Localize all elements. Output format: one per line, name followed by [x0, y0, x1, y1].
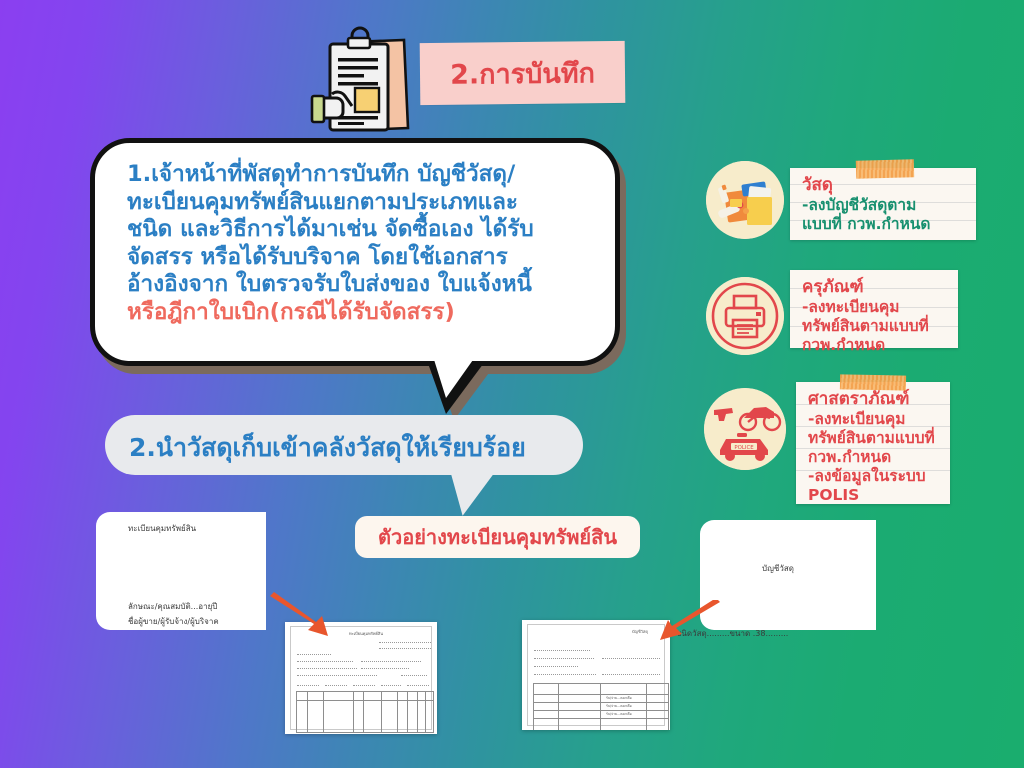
bubble-line-4: จัดสรร หรือได้รับบริจาค โดยใช้เอกสาร	[127, 244, 589, 272]
doc-card-left-line-1: ลักษณะ/คุณสมบัติ...อายุปี	[128, 600, 217, 613]
slide-canvas: 2.การบันทึก 1.เจ้าหน้าที่พัสดุทำการบันทึ…	[0, 0, 1024, 768]
second-bubble-text: 2.นำวัสดุเก็บเข้าคลังวัสดุให้เรียบร้อย	[129, 428, 526, 468]
note-3-line-2: ทรัพย์สินตามแบบที่	[808, 429, 940, 448]
note-2-line-1: -ลงทะเบียนคุม	[802, 298, 948, 317]
note-card-3: ศาสตราภัณฑ์ -ลงทะเบียนคุม ทรัพย์สินตามแบ…	[796, 382, 950, 504]
slide-title-banner: 2.การบันทึก	[420, 41, 626, 105]
note-3-line-5: POLIS	[808, 486, 940, 505]
note-1-line-1: -ลงบัญชีวัสดุตาม	[802, 196, 966, 215]
bubble-line-1: 1.เจ้าหน้าที่พัสดุทำการบันทึก บัญชีวัสดุ…	[127, 161, 589, 189]
doc-card-right-title: บัญชีวัสดุ	[762, 562, 794, 575]
doc-card-left-line-2: ชื่อผู้ขาย/ผู้รับจ้าง/ผู้บริจาค	[128, 615, 219, 628]
page-title: 2.การบันทึก	[450, 51, 595, 96]
example-label-text: ตัวอย่างทะเบียนคุมทรัพย์สิน	[378, 521, 617, 553]
bubble-line-2: ทะเบียนคุมทรัพย์สินแยกตามประเภทและ	[127, 189, 589, 217]
tape-strip-3	[840, 374, 906, 390]
main-bubble-tail-fill	[431, 350, 480, 398]
form-sheet-right: บัญชีวัสดุ รับ/จ่าย...คงเหลือ รับ/จ่าย..…	[522, 620, 670, 730]
doc-card-left: ทะเบียนคุมทรัพย์สิน ลักษณะ/คุณสมบัติ...อ…	[96, 512, 266, 630]
note-3-line-4: -ลงข้อมูลในระบบ	[808, 467, 940, 486]
note-card-1: วัสดุ -ลงบัญชีวัสดุตาม แบบที่ กวพ.กำหนด	[790, 168, 976, 240]
note-2-line-2: ทรัพย์สินตามแบบที่	[802, 317, 948, 336]
arrow-to-left-form	[268, 592, 340, 646]
form-right-title: บัญชีวัสดุ	[632, 628, 648, 635]
note-2-line-3: กวพ.กำหนด	[802, 336, 948, 355]
office-supplies-icon	[706, 161, 784, 239]
second-speech-bubble: 2.นำวัสดุเก็บเข้าคลังวัสดุให้เรียบร้อย	[105, 415, 583, 475]
doc-card-right: บัญชีวัสดุ	[700, 520, 876, 630]
clipboard-hand-icon	[308, 26, 418, 136]
printer-icon	[706, 277, 784, 355]
form-left-title: ทะเบียนคุมทรัพย์สิน	[349, 630, 383, 637]
example-label-pill: ตัวอย่างทะเบียนคุมทรัพย์สิน	[355, 516, 640, 558]
svg-text:POLICE: POLICE	[734, 445, 754, 451]
note-3-line-3: กวพ.กำหนด	[808, 448, 940, 467]
note-1-heading: วัสดุ	[802, 175, 966, 196]
note-1-line-2: แบบที่ กวพ.กำหนด	[802, 215, 966, 234]
note-3-line-1: -ลงทะเบียนคุม	[808, 410, 940, 429]
main-speech-bubble: 1.เจ้าหน้าที่พัสดุทำการบันทึก บัญชีวัสดุ…	[90, 138, 620, 366]
note-3-heading: ศาสตราภัณฑ์	[808, 389, 940, 410]
bubble-line-3: ชนิด และวิธีการได้มาเช่น จัดซื้อเอง ได้ร…	[127, 216, 589, 244]
note-2-heading: ครุภัณฑ์	[802, 277, 948, 298]
doc-card-left-title: ทะเบียนคุมทรัพย์สิน	[128, 522, 196, 535]
bubble-line-5-red: ใบตรวจรับใบส่งของ ใบแจ้งหนี้	[236, 271, 532, 297]
arrow-to-right-form	[650, 600, 722, 652]
bubble-line-5: อ้างอิงจาก ใบตรวจรับใบส่งของ ใบแจ้งหนี้	[127, 271, 589, 299]
bubble-line-6: หรือฎีกาใบเบิก(กรณีได้รับจัดสรร)	[127, 299, 589, 327]
note-card-2: ครุภัณฑ์ -ลงทะเบียนคุม ทรัพย์สินตามแบบที…	[790, 270, 958, 348]
tape-strip-1	[856, 159, 914, 179]
police-equipment-icon: POLICE	[704, 388, 786, 470]
bubble-line-5-blue: อ้างอิงจาก	[127, 271, 236, 297]
